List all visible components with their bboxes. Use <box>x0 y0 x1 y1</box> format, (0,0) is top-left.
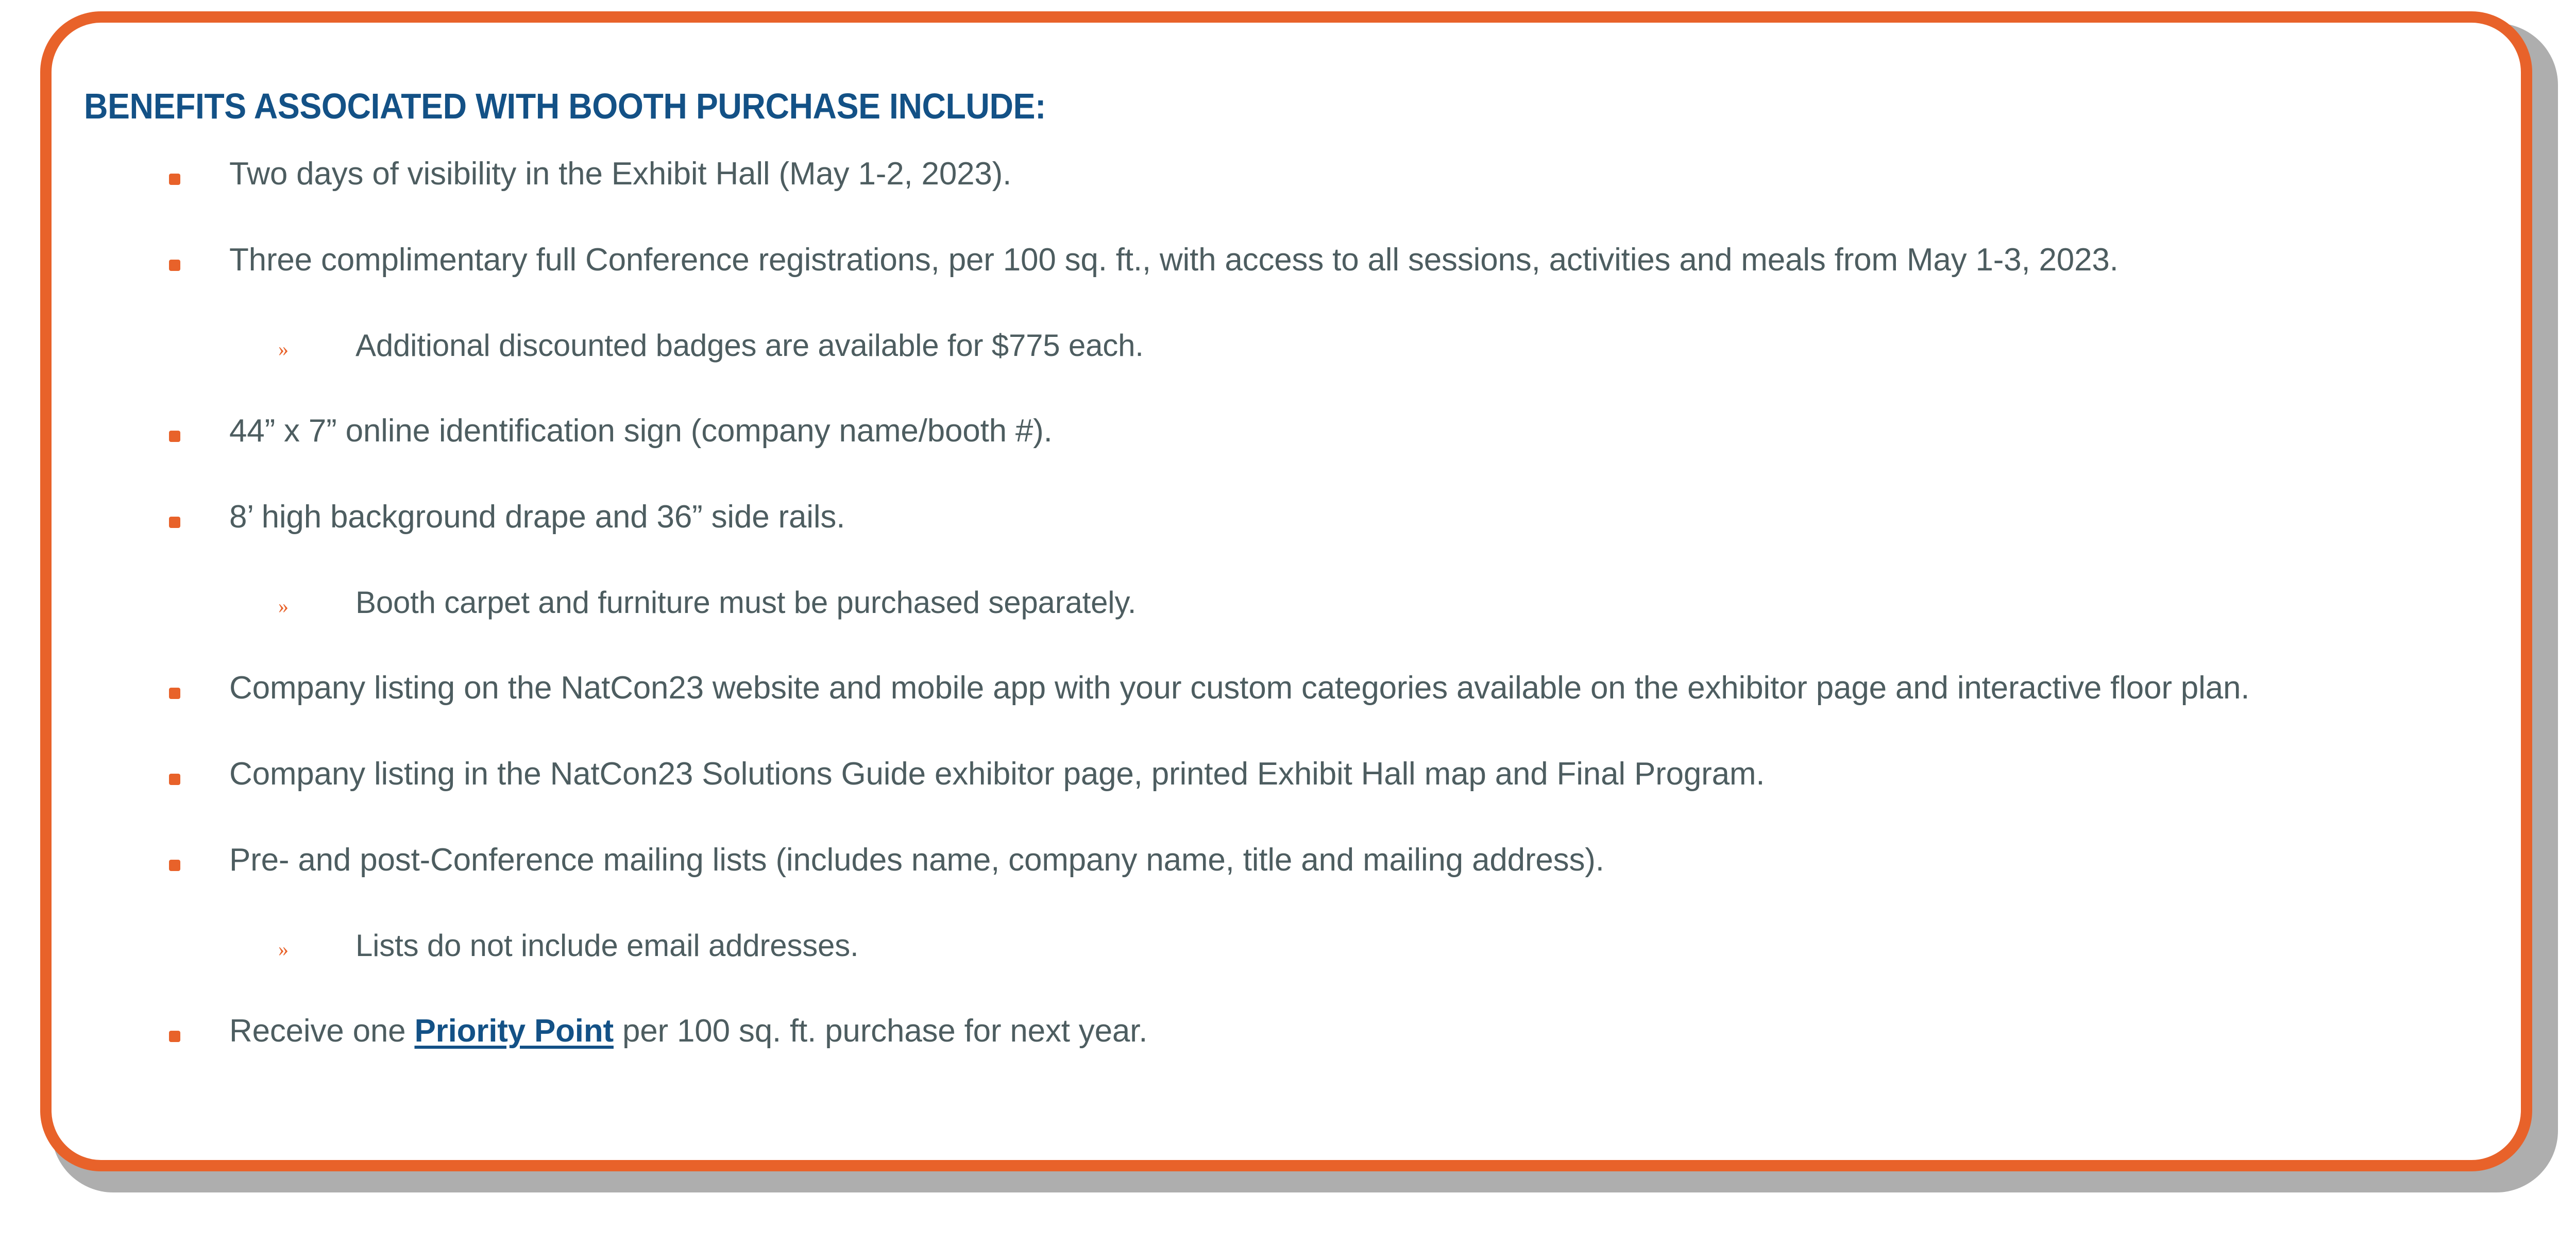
list-item-label: Two days of visibility in the Exhibit Ha… <box>229 155 2509 194</box>
benefits-card-content: BENEFITS ASSOCIATED WITH BOOTH PURCHASE … <box>0 0 2576 1245</box>
list-item: Receive one Priority Point per 100 sq. f… <box>0 1012 2576 1051</box>
square-bullet-icon <box>169 174 180 185</box>
list-item: Two days of visibility in the Exhibit Ha… <box>0 155 2576 194</box>
list-item-label: 8’ high background drape and 36” side ra… <box>229 498 2509 537</box>
list-item-sub: » Booth carpet and furniture must be pur… <box>0 584 2576 622</box>
list-item: 8’ high background drape and 36” side ra… <box>0 498 2576 537</box>
list-item-label: Additional discounted badges are availab… <box>355 327 2509 365</box>
list-item-sub: » Additional discounted badges are avail… <box>0 327 2576 365</box>
square-bullet-icon <box>169 860 180 871</box>
list-item: Company listing in the NatCon23 Solution… <box>0 755 2576 794</box>
list-item: 44” x 7” online identification sign (com… <box>0 412 2576 451</box>
list-item-sub: » Lists do not include email addresses. <box>0 927 2576 965</box>
list-item-label: Booth carpet and furniture must be purch… <box>355 584 2509 622</box>
list-item-text-after-link: per 100 sq. ft. purchase for next year. <box>614 1013 1147 1049</box>
page-title: BENEFITS ASSOCIATED WITH BOOTH PURCHASE … <box>84 86 1046 127</box>
square-bullet-icon <box>169 688 180 699</box>
square-bullet-icon <box>169 431 180 442</box>
square-bullet-icon <box>169 517 180 528</box>
priority-point-link[interactable]: Priority Point <box>415 1013 614 1049</box>
square-bullet-icon <box>169 774 180 785</box>
list-item-label: Lists do not include email addresses. <box>355 927 2509 965</box>
chevron-bullet-icon: » <box>278 339 289 360</box>
chevron-bullet-icon: » <box>278 596 289 617</box>
list-item-label: Three complimentary full Conference regi… <box>229 241 2509 280</box>
list-item: Pre- and post-Conference mailing lists (… <box>0 841 2576 880</box>
list-item-label: Company listing in the NatCon23 Solution… <box>229 755 2509 794</box>
benefits-bullet-list: Two days of visibility in the Exhibit Ha… <box>0 155 2576 1098</box>
square-bullet-icon <box>169 1031 180 1042</box>
square-bullet-icon <box>169 260 180 271</box>
list-item-label: Pre- and post-Conference mailing lists (… <box>229 841 2509 880</box>
chevron-bullet-icon: » <box>278 939 289 960</box>
list-item-label: Receive one Priority Point per 100 sq. f… <box>229 1012 2509 1051</box>
list-item-label: 44” x 7” online identification sign (com… <box>229 412 2509 451</box>
list-item-text-before-link: Receive one <box>229 1013 415 1049</box>
list-item: Three complimentary full Conference regi… <box>0 241 2576 280</box>
list-item-label: Company listing on the NatCon23 website … <box>229 669 2509 708</box>
list-item: Company listing on the NatCon23 website … <box>0 669 2576 708</box>
